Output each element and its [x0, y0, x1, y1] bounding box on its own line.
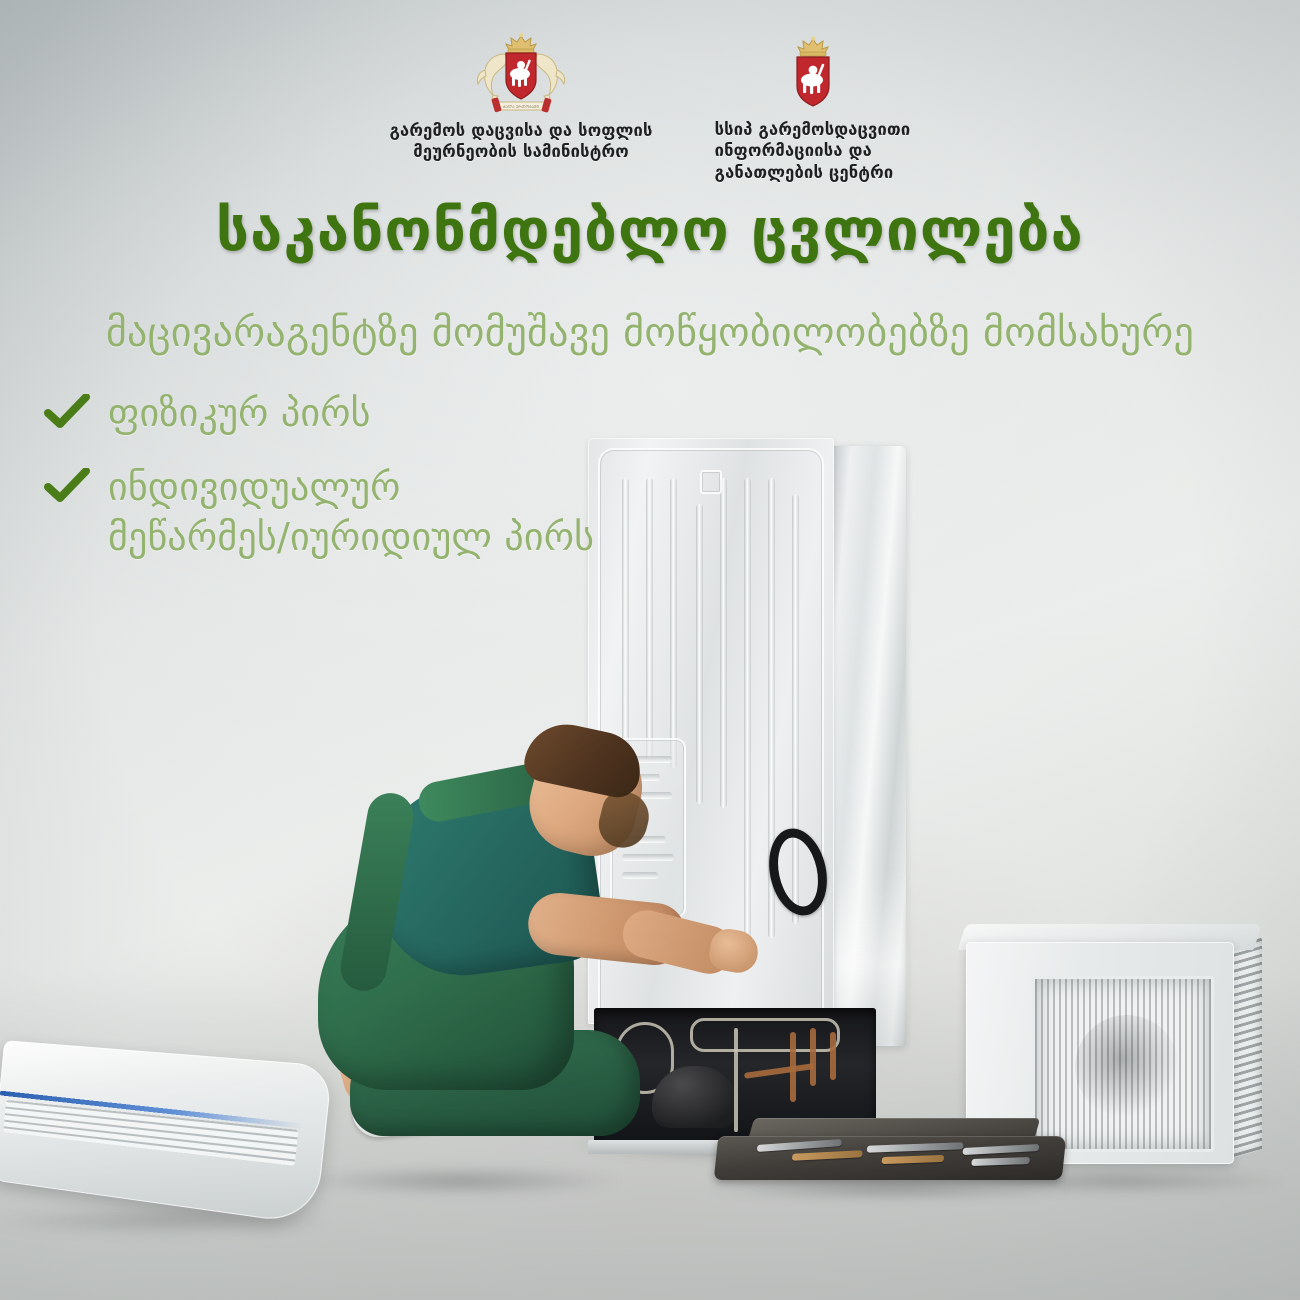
center-emblem-wrap: [715, 36, 911, 110]
ministry-emblem-wrap: ᲫᲐᲚᲐ ᲔᲠᲗᲝᲑᲐᲨᲘ: [390, 32, 653, 114]
condenser-fan: [1075, 1015, 1179, 1119]
center-caption: სსიპ გარემოსდაცვითი ინფორმაციისა და განა…: [715, 119, 911, 183]
ministry-caption: გარემოს დაცვისა და სოფლის მეურნეობის სამ…: [390, 120, 653, 162]
technician: [300, 730, 720, 1190]
bullet-label: ინდივიდუალურ მეწარმეს/იურიდიულ პირს: [108, 462, 594, 562]
logo-center: სსიპ გარემოსდაცვითი ინფორმაციისა და განა…: [715, 32, 911, 183]
bullet-label: ფიზიკურ პირს: [108, 388, 371, 438]
list-item: ინდივიდუალურ მეწარმეს/იურიდიულ პირს: [44, 462, 594, 562]
check-icon: [44, 394, 90, 434]
toolbox-tray: [714, 1136, 1067, 1180]
refrigerator-vent-notch: [700, 470, 722, 494]
ac-indoor-unit: [0, 1052, 330, 1242]
list-item: ფიზიკურ პირს: [44, 388, 594, 438]
georgia-shield-crown-icon: [782, 36, 844, 110]
page-title: საკანონმდებლო ცვლილება: [0, 196, 1300, 264]
check-icon: [44, 468, 90, 508]
toolbox: [716, 1118, 1066, 1190]
svg-text:ᲫᲐᲚᲐ ᲔᲠᲗᲝᲑᲐᲨᲘ: ᲫᲐᲚᲐ ᲔᲠᲗᲝᲑᲐᲨᲘ: [503, 104, 540, 109]
refrigerator-side-panel: [834, 446, 906, 1046]
photo-scene: [0, 0, 1300, 1300]
header: ᲫᲐᲚᲐ ᲔᲠᲗᲝᲑᲐᲨᲘ გარემოს დაცვისა და სოფლის …: [0, 32, 1300, 183]
georgia-coat-of-arms-icon: ᲫᲐᲚᲐ ᲔᲠᲗᲝᲑᲐᲨᲘ: [473, 32, 569, 114]
logo-ministry: ᲫᲐᲚᲐ ᲔᲠᲗᲝᲑᲐᲨᲘ გარემოს დაცვისა და სოფლის …: [390, 32, 653, 162]
poster-root: ᲫᲐᲚᲐ ᲔᲠᲗᲝᲑᲐᲨᲘ გარემოს დაცვისა და სოფლის …: [0, 0, 1300, 1300]
page-subtitle: მაცივარაგენტზე მომუშავე მოწყობილობებზე მ…: [0, 310, 1300, 356]
bullet-list: ფიზიკურ პირს ინდივიდუალურ მეწარმეს/იურიდ…: [44, 388, 594, 562]
